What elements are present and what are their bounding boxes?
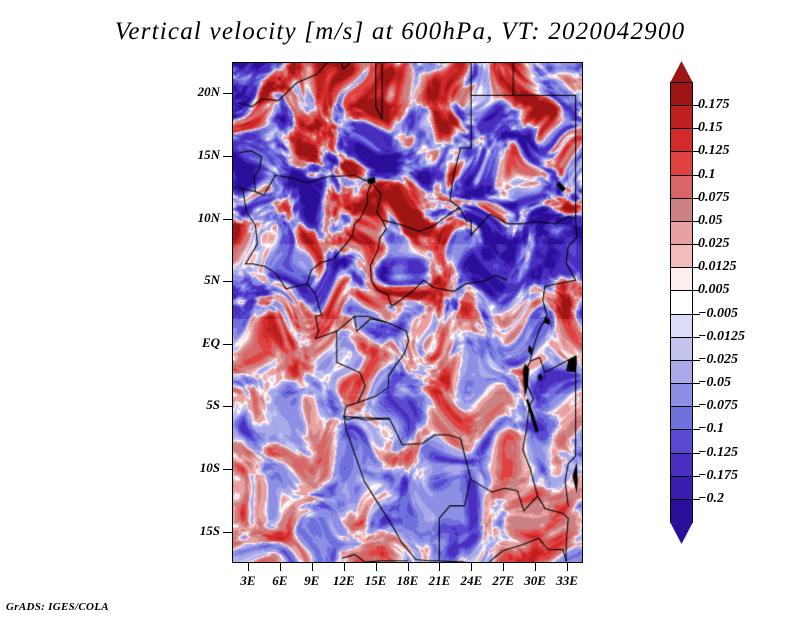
colorbar-segment bbox=[670, 499, 693, 524]
colorbar-segment bbox=[670, 105, 693, 130]
y-axis-label: 10N bbox=[170, 210, 220, 226]
colorbar-segment bbox=[670, 429, 693, 454]
colorbar-segment bbox=[670, 198, 693, 223]
colorbar-segment bbox=[670, 360, 693, 385]
colorbar-label: −0.1 bbox=[698, 421, 724, 437]
colorbar-segment bbox=[670, 151, 693, 176]
y-axis-tick bbox=[223, 344, 232, 345]
y-axis-label: 15S bbox=[170, 523, 220, 539]
x-axis-tick bbox=[312, 563, 313, 571]
colorbar-segment bbox=[670, 314, 693, 339]
x-axis-tick bbox=[248, 563, 249, 571]
page-title: Vertical velocity [m/s] at 600hPa, VT: 2… bbox=[0, 18, 800, 46]
x-axis-tick bbox=[376, 563, 377, 571]
y-axis-label: 5N bbox=[170, 272, 220, 288]
colorbar-label: −0.2 bbox=[698, 491, 724, 507]
colorbar-label: −0.025 bbox=[698, 352, 738, 368]
colorbar-label: 0.025 bbox=[698, 236, 730, 252]
colorbar-segment bbox=[670, 476, 693, 501]
colorbar-label: 0.005 bbox=[698, 282, 730, 298]
colorbar-segment bbox=[670, 244, 693, 269]
y-axis-label: 20N bbox=[170, 84, 220, 100]
y-axis-label: EQ bbox=[170, 335, 220, 351]
y-axis-tick bbox=[223, 532, 232, 533]
x-axis-tick bbox=[535, 563, 536, 571]
footer-credit: GrADS: IGES/COLA bbox=[6, 601, 109, 613]
colorbar-label: 0.05 bbox=[698, 213, 723, 229]
y-axis-tick bbox=[223, 156, 232, 157]
x-axis-tick bbox=[344, 563, 345, 571]
y-axis-label: 10S bbox=[170, 460, 220, 476]
colorbar-segment bbox=[670, 175, 693, 200]
x-axis-tick bbox=[408, 563, 409, 571]
colorbar-segment bbox=[670, 453, 693, 478]
colorbar-segment bbox=[670, 290, 693, 315]
colorbar-label: 0.075 bbox=[698, 190, 730, 206]
colorbar-min-arrow bbox=[670, 522, 693, 544]
x-axis-tick bbox=[439, 563, 440, 571]
x-axis-tick bbox=[567, 563, 568, 571]
x-axis-tick bbox=[471, 563, 472, 571]
colorbar-label: 0.175 bbox=[698, 97, 730, 113]
y-axis-tick bbox=[223, 281, 232, 282]
colorbar-max-arrow bbox=[670, 61, 693, 83]
map-plot-area bbox=[232, 62, 583, 563]
y-axis-tick bbox=[223, 469, 232, 470]
colorbar-segment bbox=[670, 383, 693, 408]
x-axis-label: 33E bbox=[545, 573, 589, 589]
colorbar-label: −0.075 bbox=[698, 398, 738, 414]
y-axis-label: 5S bbox=[170, 397, 220, 413]
colorbar-label: −0.125 bbox=[698, 445, 738, 461]
y-axis-tick bbox=[223, 406, 232, 407]
colorbar-label: −0.005 bbox=[698, 306, 738, 322]
colorbar-label: 0.125 bbox=[698, 143, 730, 159]
colorbar-label: −0.175 bbox=[698, 468, 738, 484]
colorbar-label: 0.0125 bbox=[698, 259, 737, 275]
y-axis-tick bbox=[223, 219, 232, 220]
colorbar-label: −0.0125 bbox=[698, 329, 745, 345]
colorbar-label: −0.05 bbox=[698, 375, 731, 391]
y-axis-tick bbox=[223, 93, 232, 94]
colorbar-segment bbox=[670, 128, 693, 153]
colorbar-segment bbox=[670, 337, 693, 362]
y-axis-label: 15N bbox=[170, 147, 220, 163]
colorbar-segment bbox=[670, 221, 693, 246]
colorbar-segment bbox=[670, 267, 693, 292]
colorbar-segment bbox=[670, 82, 693, 107]
colorbar: 0.1750.150.1250.10.0750.050.0250.01250.0… bbox=[670, 82, 693, 522]
colorbar-label: 0.1 bbox=[698, 167, 716, 183]
x-axis-tick bbox=[503, 563, 504, 571]
country-borders-overlay bbox=[233, 63, 582, 562]
colorbar-label: 0.15 bbox=[698, 120, 723, 136]
x-axis-tick bbox=[280, 563, 281, 571]
colorbar-segment bbox=[670, 406, 693, 431]
